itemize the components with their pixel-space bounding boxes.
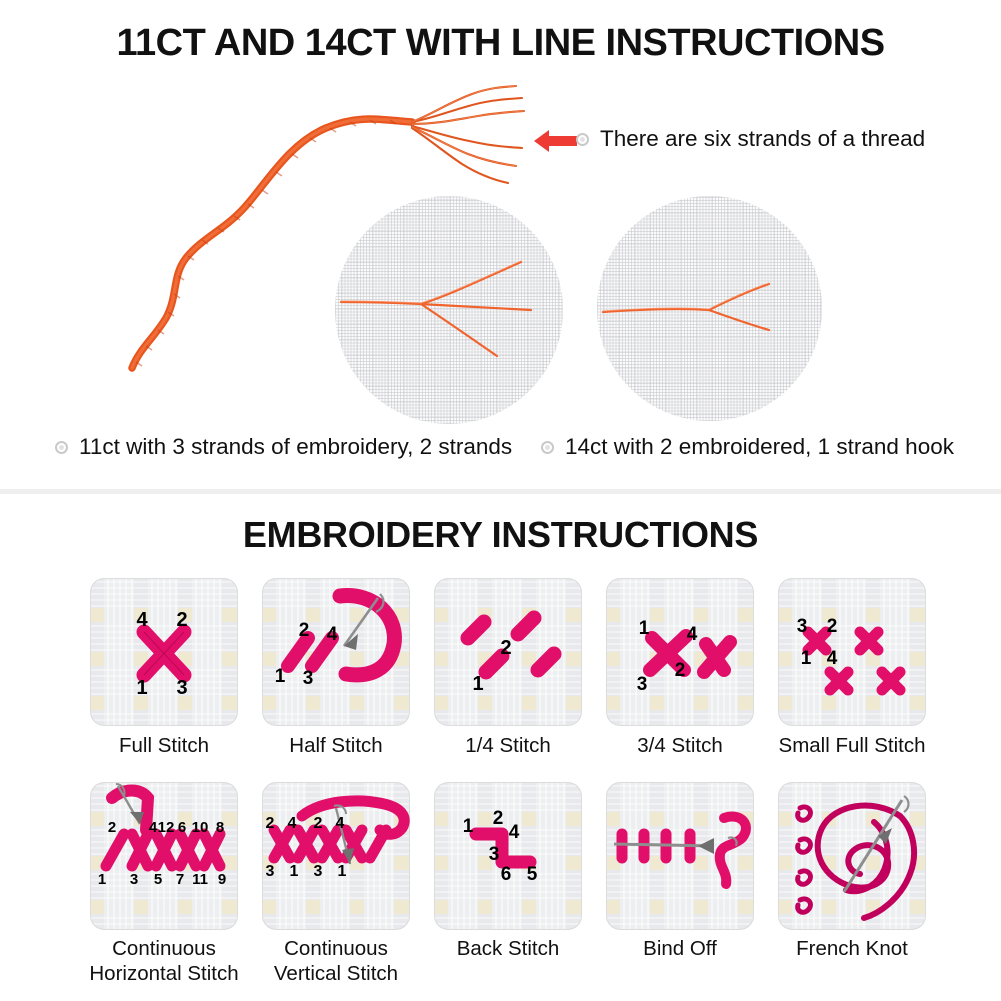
stitch-diagram-back-stitch: 1 2 4 3 6 5: [434, 782, 582, 930]
stitch-cell-small-full-stitch: 3 2 1 4 Small Full Stitch: [766, 578, 938, 758]
caption-14ct-text: 14ct with 2 embroidered, 1 strand hook: [565, 434, 954, 460]
left-arrow-icon: [533, 127, 579, 155]
stitch-label: Continuous Vertical Stitch: [274, 936, 398, 986]
stitch-tile-french-knot: [778, 782, 926, 930]
svg-text:3: 3: [314, 863, 323, 880]
stitch-section: EMBROIDERY INSTRUCTIONS: [0, 494, 1001, 1001]
thread-strand-note: There are six strands of a thread: [576, 126, 925, 152]
thread-section: 11CT AND 14CT WITH LINE INSTRUCTIONS: [0, 0, 1001, 492]
svg-text:1: 1: [98, 871, 106, 888]
stitch-label: 1/4 Stitch: [465, 733, 550, 758]
svg-text:1: 1: [290, 863, 299, 880]
svg-text:3: 3: [303, 668, 314, 689]
svg-text:2: 2: [500, 637, 511, 659]
stitch-label: Continuous Horizontal Stitch: [89, 936, 238, 986]
svg-text:4: 4: [336, 815, 345, 832]
svg-text:4: 4: [327, 624, 338, 645]
svg-text:5: 5: [154, 871, 162, 888]
svg-text:4: 4: [288, 815, 297, 832]
svg-text:7: 7: [176, 871, 184, 888]
caption-11ct-text: 11ct with 3 strands of embroidery, 2 str…: [79, 434, 512, 460]
stitch-cell-bind-off: Bind Off: [594, 782, 766, 986]
stitch-cell-three-quarter-stitch: 1 4 2 3 3/4 Stitch: [594, 578, 766, 758]
fabric-circle-14ct: [597, 196, 822, 421]
page-title: 11CT AND 14CT WITH LINE INSTRUCTIONS: [0, 22, 1001, 65]
stitch-tile-half-stitch: 2 4 1 3: [262, 578, 410, 726]
stitch-label: Bind Off: [643, 936, 717, 961]
svg-text:1: 1: [463, 816, 474, 837]
stitch-diagram-bind-off: [606, 782, 754, 930]
svg-text:1: 1: [338, 863, 347, 880]
stitch-diagram-quarter-stitch: 2 1: [434, 578, 582, 726]
svg-text:3: 3: [797, 616, 808, 637]
stitch-cell-quarter-stitch: 2 1 1/4 Stitch: [422, 578, 594, 758]
svg-text:2: 2: [493, 808, 504, 829]
svg-text:2: 2: [299, 620, 310, 641]
svg-text:10: 10: [192, 819, 209, 836]
svg-text:3: 3: [130, 871, 138, 888]
stitch-diagram-small-full-stitch: 3 2 1 4: [778, 578, 926, 726]
svg-text:2: 2: [314, 815, 323, 832]
stitch-section-title: EMBROIDERY INSTRUCTIONS: [0, 514, 1001, 556]
stitch-tile-bind-off: [606, 782, 754, 930]
stitch-label: Full Stitch: [119, 733, 209, 758]
svg-text:1: 1: [275, 666, 286, 687]
stitch-label: 3/4 Stitch: [637, 733, 722, 758]
stitch-tile-quarter-stitch: 2 1: [434, 578, 582, 726]
svg-text:4: 4: [136, 609, 148, 631]
caption-14ct: 14ct with 2 embroidered, 1 strand hook: [541, 434, 954, 460]
svg-text:6: 6: [178, 819, 186, 836]
stitch-diagram-full-stitch: 4 2 1 3: [90, 578, 238, 726]
svg-text:1: 1: [136, 677, 147, 699]
bullet-ring-icon: [55, 441, 68, 454]
stitch-grid: 4 2 1 3 Full Stitch: [78, 578, 938, 986]
svg-text:1: 1: [639, 618, 650, 639]
stitch-cell-continuous-vertical: 2 4 2 4 3 1 3 1 Continuous Vertical Sti: [250, 782, 422, 986]
stitch-tile-full-stitch: 4 2 1 3: [90, 578, 238, 726]
svg-text:2: 2: [266, 815, 275, 832]
bullet-ring-icon: [541, 441, 554, 454]
svg-text:9: 9: [218, 871, 226, 888]
svg-text:6: 6: [501, 864, 512, 885]
stitch-label: Back Stitch: [457, 936, 560, 961]
stitch-diagram-three-quarter-stitch: 1 4 2 3: [606, 578, 754, 726]
svg-text:1: 1: [472, 673, 483, 695]
svg-text:2: 2: [827, 616, 838, 637]
svg-text:3: 3: [266, 863, 275, 880]
instruction-sheet: 11CT AND 14CT WITH LINE INSTRUCTIONS: [0, 0, 1001, 1001]
svg-text:3: 3: [637, 674, 648, 695]
thread-strand-note-text: There are six strands of a thread: [600, 126, 925, 152]
stitch-cell-continuous-horizontal: 2 4 12 6 10 8 1 3 5 7 11: [78, 782, 250, 986]
stitch-tile-small-full-stitch: 3 2 1 4: [778, 578, 926, 726]
stitch-diagram-half-stitch: 2 4 1 3: [262, 578, 410, 726]
stitch-cell-back-stitch: 1 2 4 3 6 5 Back Stitch: [422, 782, 594, 986]
needle-icon: [614, 837, 737, 846]
fabric-circle-11ct: [335, 196, 563, 424]
stitch-row: 4 2 1 3 Full Stitch: [78, 578, 938, 758]
svg-text:4: 4: [827, 648, 838, 669]
stitch-tile-back-stitch: 1 2 4 3 6 5: [434, 782, 582, 930]
svg-text:3: 3: [176, 677, 187, 699]
stitch-cell-french-knot: French Knot: [766, 782, 938, 986]
stitch-label: Small Full Stitch: [779, 733, 926, 758]
svg-text:2: 2: [176, 609, 187, 631]
stitch-tile-three-quarter-stitch: 1 4 2 3: [606, 578, 754, 726]
svg-text:1: 1: [801, 648, 812, 669]
stitch-label: French Knot: [796, 936, 908, 961]
bullet-ring-icon: [576, 133, 589, 146]
svg-text:8: 8: [216, 819, 224, 836]
caption-11ct: 11ct with 3 strands of embroidery, 2 str…: [55, 434, 512, 460]
stitch-cell-full-stitch: 4 2 1 3 Full Stitch: [78, 578, 250, 758]
french-knot-dots: [798, 807, 811, 912]
svg-text:2: 2: [675, 660, 686, 681]
svg-text:5: 5: [527, 864, 538, 885]
stitch-diagram-french-knot: [778, 782, 926, 930]
stitch-label: Half Stitch: [289, 733, 382, 758]
fabric-circle-14ct-threads: [597, 196, 822, 421]
stitch-diagram-continuous-vertical: 2 4 2 4 3 1 3 1: [262, 782, 410, 930]
stitch-cell-half-stitch: 2 4 1 3 Half Stitch: [250, 578, 422, 758]
svg-text:3: 3: [489, 844, 500, 865]
svg-text:11: 11: [192, 871, 208, 888]
fabric-circle-11ct-threads: [335, 196, 563, 424]
svg-text:2: 2: [108, 819, 116, 836]
stitch-diagram-continuous-horizontal: 2 4 12 6 10 8 1 3 5 7 11: [90, 782, 238, 930]
stitch-tile-continuous-horizontal: 2 4 12 6 10 8 1 3 5 7 11: [90, 782, 238, 930]
svg-text:4: 4: [687, 624, 698, 645]
stitch-tile-continuous-vertical: 2 4 2 4 3 1 3 1: [262, 782, 410, 930]
stitch-row: 2 4 12 6 10 8 1 3 5 7 11: [78, 782, 938, 986]
svg-text:12: 12: [158, 819, 175, 836]
svg-text:4: 4: [509, 822, 520, 843]
svg-text:4: 4: [149, 819, 158, 836]
